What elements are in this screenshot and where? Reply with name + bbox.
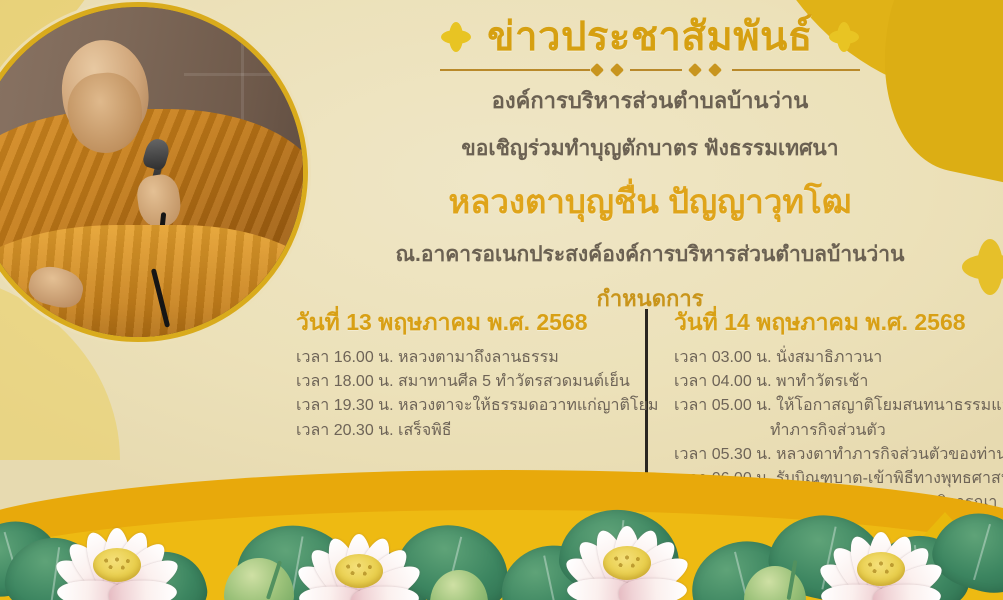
venue-text: ณ.อาคารอเนกประสงค์องค์การบริหารส่วนตำบลบ… (300, 238, 1000, 271)
flower-ornament-icon-edge (961, 238, 1003, 296)
lotus-flower (296, 496, 422, 600)
monk-name: หลวงตาบุญชื่น ปัญญาวุทโฒ (300, 175, 1000, 228)
title-row: ข่าวประชาสัมพันธ์ (300, 14, 1000, 60)
poster-canvas: ข่าวประชาสัมพันธ์ องค์การบริหารส่วนตำบลบ… (0, 0, 1003, 600)
lotus-core (335, 554, 383, 588)
lotus-decoration-band (0, 470, 1003, 600)
schedule-item: เวลา 03.00 น. นั่งสมาธิภาวนา (674, 346, 1003, 369)
monk-portrait-photo (0, 2, 308, 342)
organization-name: องค์การบริหารส่วนตำบลบ้านว่าน (300, 83, 1000, 118)
schedule-item: เวลา 19.30 น. หลวงตาจะให้ธรรมดอวาทแก่ญาต… (296, 394, 644, 417)
day1-title: วันที่ 13 พฤษภาคม พ.ศ. 2568 (296, 305, 644, 341)
divider-diamond (610, 63, 624, 77)
header-block: ข่าวประชาสัมพันธ์ องค์การบริหารส่วนตำบลบ… (300, 14, 1000, 316)
day2-title: วันที่ 14 พฤษภาคม พ.ศ. 2568 (674, 305, 1003, 341)
monk-portrait-inner (0, 7, 303, 337)
schedule-item: เวลา 16.00 น. หลวงตามาถึงลานธรรม (296, 346, 644, 369)
lotus-core (93, 548, 141, 582)
divider-line (440, 69, 590, 71)
continuation-text: ทำภารกิจส่วนตัว (674, 419, 1003, 442)
lotus-core (603, 546, 651, 580)
schedule-item-continuation: ทำภารกิจส่วนตัว (674, 419, 1003, 442)
divider-line (630, 69, 682, 71)
title-divider (440, 63, 860, 77)
divider-line (732, 69, 860, 71)
flower-ornament-icon-right (829, 22, 859, 52)
invitation-text: ขอเชิญร่วมทำบุญตักบาตร ฟังธรรมเทศนา (300, 132, 1000, 165)
schedule-item: เวลา 20.30 น. เสร็จพิธี (296, 419, 644, 442)
schedule-item: เวลา 04.00 น. พาทำวัตรเช้า (674, 370, 1003, 393)
divider-diamond (708, 63, 722, 77)
schedule-item: เวลา 18.00 น. สมาทานศีล 5 ทำวัตรสวดมนต์เ… (296, 370, 644, 393)
lotus-flower (564, 488, 690, 600)
flower-ornament-icon-left (441, 22, 471, 52)
divider-diamond (688, 63, 702, 77)
schedule-item: เวลา 05.00 น. ให้โอกาสญาติโยมสนทนาธรรมแล… (674, 394, 1003, 417)
schedule-item: เวลา 05.30 น. หลวงตาทำภารกิจส่วนตัวของท่… (674, 443, 1003, 466)
lotus-core (857, 552, 905, 586)
divider-diamond (590, 63, 604, 77)
wall-line (184, 73, 303, 76)
lotus-flower (54, 490, 180, 600)
lotus-flower (818, 494, 944, 600)
page-title: ข่าวประชาสัมพันธ์ (487, 14, 813, 60)
